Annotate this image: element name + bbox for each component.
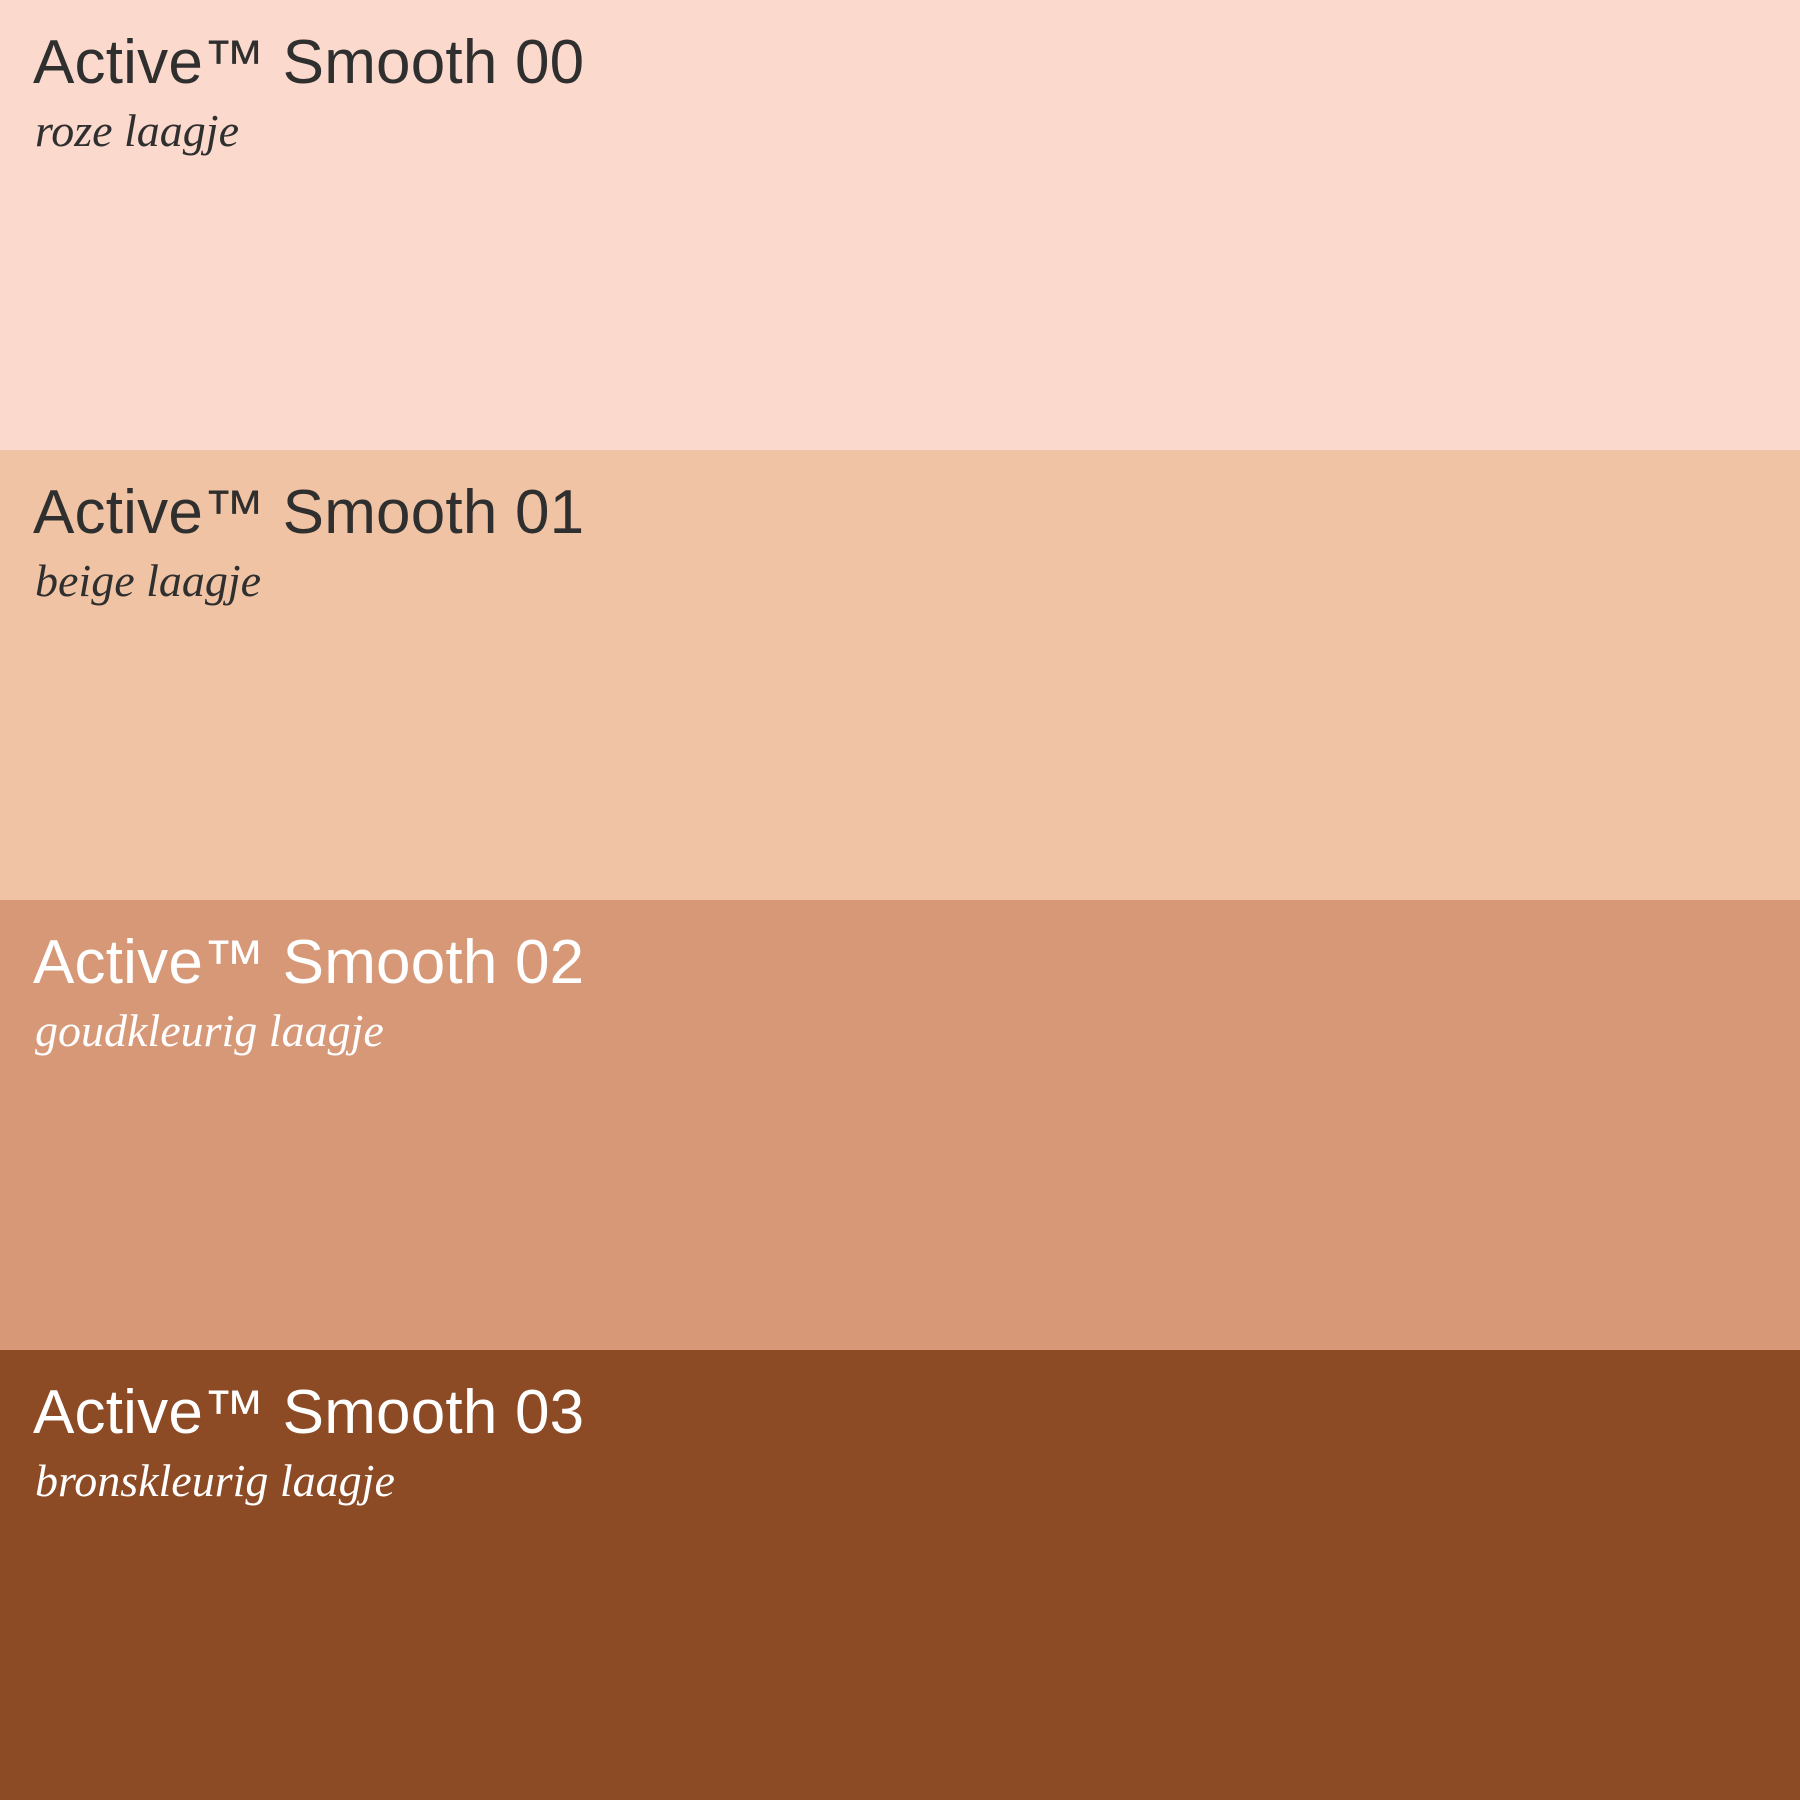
swatch-subtitle-01: beige laagje (35, 557, 1800, 605)
swatch-title-02: Active™ Smooth 02 (33, 930, 1800, 995)
swatch-title-00: Active™ Smooth 00 (33, 30, 1800, 95)
swatch-title-01: Active™ Smooth 01 (33, 480, 1800, 545)
swatch-title-03: Active™ Smooth 03 (33, 1380, 1800, 1445)
swatch-row-02[interactable]: Active™ Smooth 02 goudkleurig laagje (0, 900, 1800, 1350)
swatch-row-03[interactable]: Active™ Smooth 03 bronskleurig laagje (0, 1350, 1800, 1800)
swatch-row-01[interactable]: Active™ Smooth 01 beige laagje (0, 450, 1800, 900)
color-swatch-palette: Active™ Smooth 00 roze laagje Active™ Sm… (0, 0, 1800, 1800)
swatch-subtitle-02: goudkleurig laagje (35, 1007, 1800, 1055)
swatch-row-00[interactable]: Active™ Smooth 00 roze laagje (0, 0, 1800, 450)
swatch-subtitle-00: roze laagje (35, 107, 1800, 155)
swatch-subtitle-03: bronskleurig laagje (35, 1457, 1800, 1505)
